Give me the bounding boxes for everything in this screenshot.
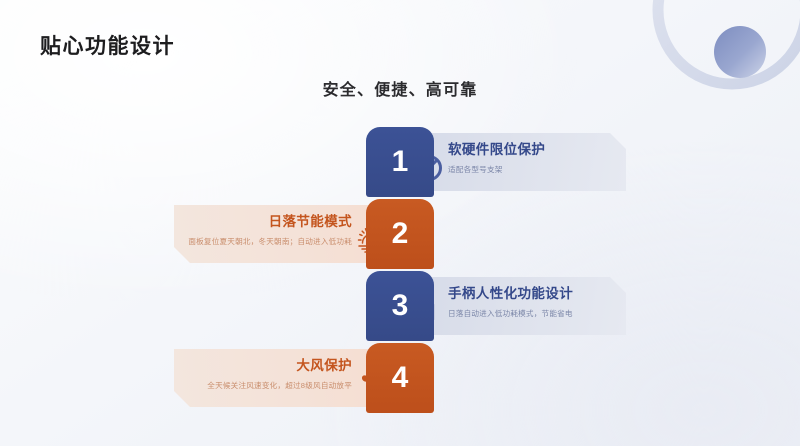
feature-row[interactable]: 4 大风保护 全天候关注风速变化，超过8级风自动放平 xyxy=(0,343,800,415)
decorative-molecule-graphic xyxy=(640,0,800,127)
feature-text: 大风保护 全天候关注风速变化，超过8级风自动放平 xyxy=(207,357,352,392)
feature-text: 软硬件限位保护 适配各型号支架 xyxy=(448,141,545,176)
feature-number-badge: 3 xyxy=(366,271,434,341)
feature-number-badge: 4 xyxy=(366,343,434,413)
section-subtitle: 安全、便捷、高可靠 xyxy=(0,76,800,100)
feature-row[interactable]: 2 日落节能模式 面板复位夏天朝北，冬天朝南；自动进入低功耗 xyxy=(0,199,800,271)
feature-text: 日落节能模式 面板复位夏天朝北，冬天朝南；自动进入低功耗 xyxy=(188,213,352,248)
feature-number-badge: 1 xyxy=(366,127,434,197)
feature-row[interactable]: 1 软硬件限位保护 适配各型号支架 xyxy=(0,127,800,199)
feature-heading: 软硬件限位保护 xyxy=(448,141,545,159)
feature-list: 1 软硬件限位保护 适配各型号支架 xyxy=(0,127,800,415)
feature-description: 日落自动进入低功耗模式，节能省电 xyxy=(448,308,573,319)
page-title: 贴心功能设计 xyxy=(40,30,175,60)
feature-description: 面板复位夏天朝北，冬天朝南；自动进入低功耗 xyxy=(188,236,352,247)
feature-row[interactable]: 3 手柄人性化功能设计 日落自动进入低功耗模式，节能省电 xyxy=(0,271,800,343)
feature-heading: 手柄人性化功能设计 xyxy=(448,285,573,303)
feature-text: 手柄人性化功能设计 日落自动进入低功耗模式，节能省电 xyxy=(448,285,573,320)
feature-number-badge: 2 xyxy=(366,199,434,269)
feature-description: 全天候关注风速变化，超过8级风自动放平 xyxy=(207,380,352,391)
feature-description: 适配各型号支架 xyxy=(448,164,545,175)
feature-heading: 日落节能模式 xyxy=(188,213,352,231)
feature-heading: 大风保护 xyxy=(207,357,352,375)
